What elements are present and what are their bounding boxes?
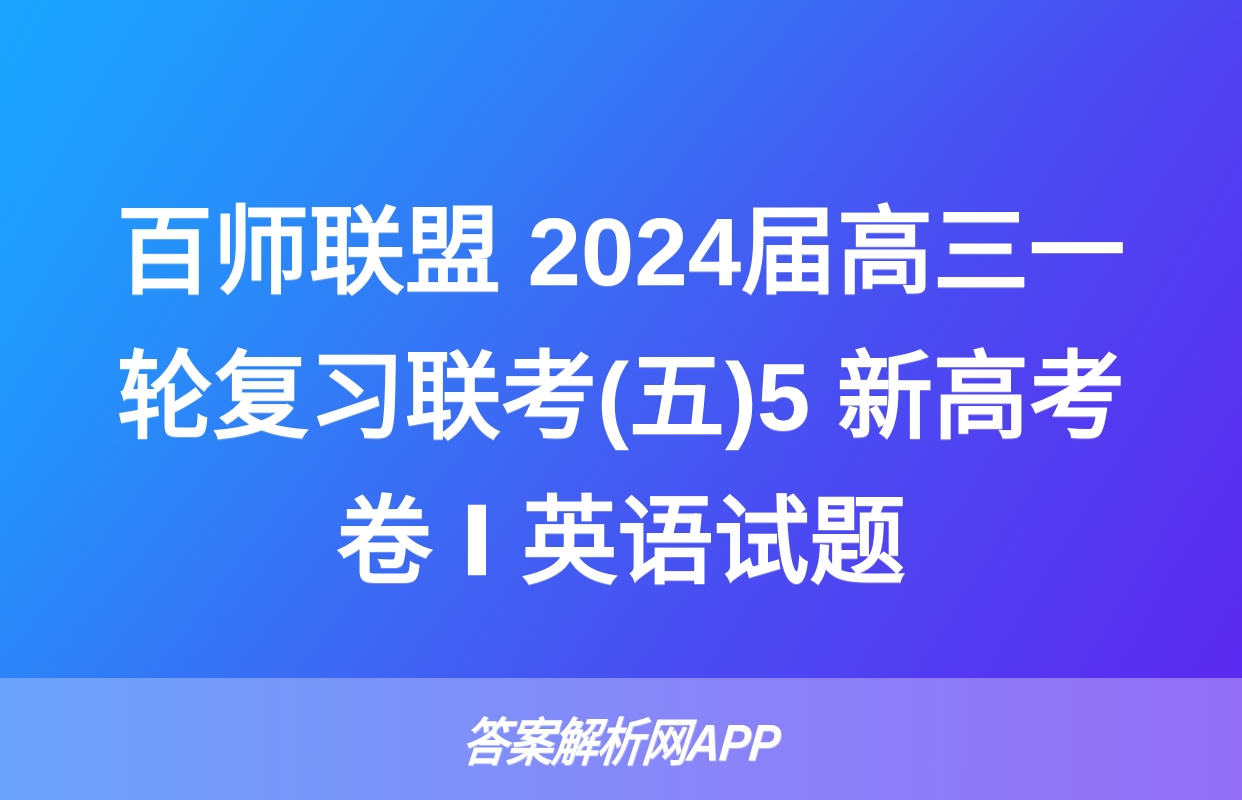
watermark-container: 答案解析网APP (0, 678, 1242, 800)
page-title: 百师联盟 2024届高三一 轮复习联考(五)5 新高考 卷 Ⅰ 英语试题 (0, 180, 1242, 615)
title-line-1: 百师联盟 2024届高三一 (0, 180, 1242, 325)
title-line-3: 卷 Ⅰ 英语试题 (0, 470, 1242, 615)
exam-cover-card: 百师联盟 2024届高三一 轮复习联考(五)5 新高考 卷 Ⅰ 英语试题 答案解… (0, 0, 1242, 800)
footer-band: 答案解析网APP (0, 678, 1242, 800)
title-line-2: 轮复习联考(五)5 新高考 (0, 325, 1242, 470)
watermark-brand-label: 答案解析网APP (459, 702, 783, 776)
